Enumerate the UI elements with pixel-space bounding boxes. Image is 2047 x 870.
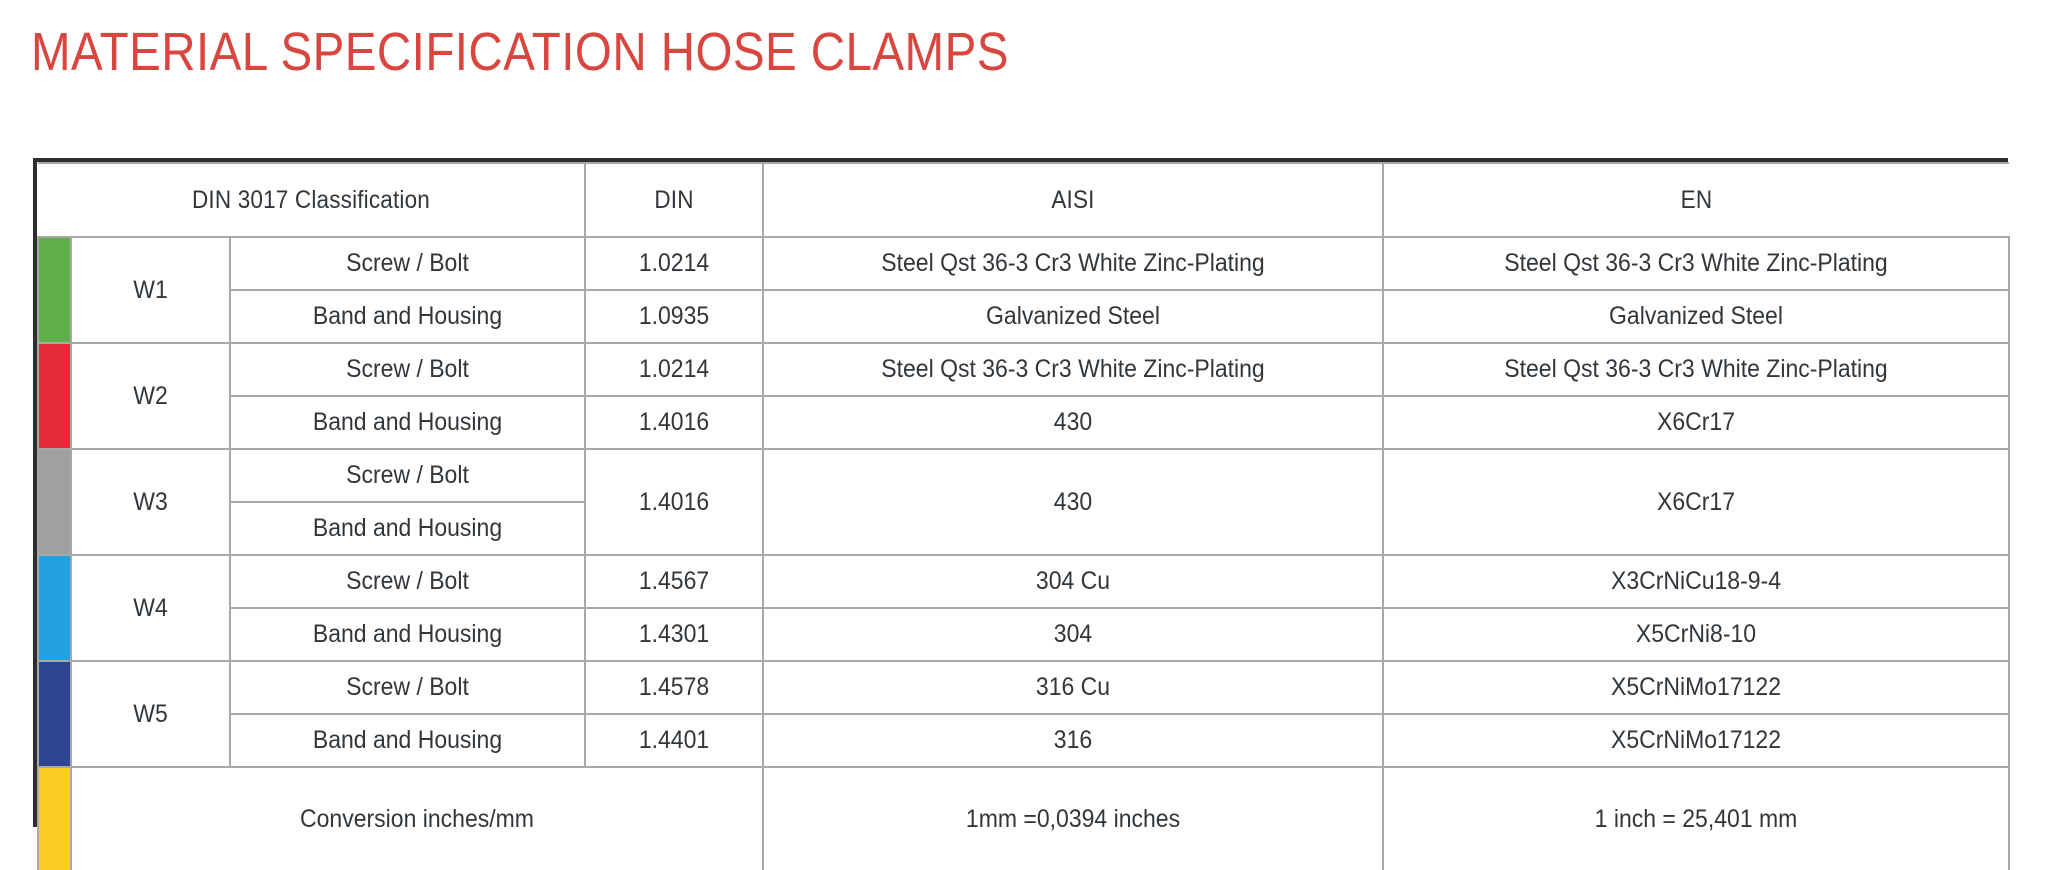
material-spec-table-container: DIN 3017 Classification DIN AISI EN bbox=[33, 158, 2008, 827]
aisi-value: 304 Cu bbox=[763, 555, 1383, 608]
din-value-merged: 1.4016 bbox=[585, 449, 763, 555]
class-code-w4: W4 bbox=[71, 555, 230, 661]
part-label: Band and Housing bbox=[230, 502, 585, 555]
part-label: Band and Housing bbox=[230, 714, 585, 767]
din-value: 1.4567 bbox=[585, 555, 763, 608]
table-header: DIN 3017 Classification DIN AISI EN bbox=[38, 163, 2009, 237]
part-label: Screw / Bolt bbox=[230, 237, 585, 290]
en-value: X6Cr17 bbox=[1383, 396, 2009, 449]
en-value: Steel Qst 36-3 Cr3 White Zinc-Plating bbox=[1383, 237, 2009, 290]
din-value: 1.0214 bbox=[585, 343, 763, 396]
color-swatch-conversion bbox=[38, 767, 71, 870]
color-swatch-w1 bbox=[38, 237, 71, 343]
class-code-w2: W2 bbox=[71, 343, 230, 449]
table-row: W5 Screw / Bolt 1.4578 316 Cu X5CrNiMo17… bbox=[38, 661, 2009, 714]
page-root: MATERIAL SPECIFICATION HOSE CLAMPS DIN 3… bbox=[0, 0, 2047, 868]
din-value: 1.4301 bbox=[585, 608, 763, 661]
din-value: 1.0214 bbox=[585, 237, 763, 290]
color-swatch-w3 bbox=[38, 449, 71, 555]
en-value-merged: X6Cr17 bbox=[1383, 449, 2009, 555]
table-row: Band and Housing 1.4301 304 X5CrNi8-10 bbox=[38, 608, 2009, 661]
page-title: MATERIAL SPECIFICATION HOSE CLAMPS bbox=[31, 22, 1009, 82]
din-value: 1.4401 bbox=[585, 714, 763, 767]
swatch-fill bbox=[39, 450, 70, 554]
table-row: Band and Housing 1.4016 430 X6Cr17 bbox=[38, 396, 2009, 449]
part-label: Screw / Bolt bbox=[230, 661, 585, 714]
column-header-din: DIN bbox=[585, 163, 763, 237]
din-value: 1.4578 bbox=[585, 661, 763, 714]
class-code-w3: W3 bbox=[71, 449, 230, 555]
swatch-fill bbox=[39, 662, 70, 766]
table-row: W4 Screw / Bolt 1.4567 304 Cu X3CrNiCu18… bbox=[38, 555, 2009, 608]
column-header-classification: DIN 3017 Classification bbox=[38, 163, 585, 237]
en-value: X5CrNiMo17122 bbox=[1383, 661, 2009, 714]
aisi-value: 316 Cu bbox=[763, 661, 1383, 714]
aisi-value: Steel Qst 36-3 Cr3 White Zinc-Plating bbox=[763, 343, 1383, 396]
part-label: Band and Housing bbox=[230, 608, 585, 661]
table-row: W1 Screw / Bolt 1.0214 Steel Qst 36-3 Cr… bbox=[38, 237, 2009, 290]
color-swatch-w2 bbox=[38, 343, 71, 449]
color-swatch-w4 bbox=[38, 555, 71, 661]
en-value: Galvanized Steel bbox=[1383, 290, 2009, 343]
material-spec-table: DIN 3017 Classification DIN AISI EN bbox=[37, 162, 2010, 870]
en-value: X5CrNi8-10 bbox=[1383, 608, 2009, 661]
aisi-value: 304 bbox=[763, 608, 1383, 661]
din-value: 1.4016 bbox=[585, 396, 763, 449]
table-header-row: DIN 3017 Classification DIN AISI EN bbox=[38, 163, 2009, 237]
en-value: X3CrNiCu18-9-4 bbox=[1383, 555, 2009, 608]
conversion-mm-to-inches: 1mm =0,0394 inches bbox=[763, 767, 1383, 870]
en-value: Steel Qst 36-3 Cr3 White Zinc-Plating bbox=[1383, 343, 2009, 396]
conversion-row: Conversion inches/mm 1mm =0,0394 inches … bbox=[38, 767, 2009, 870]
din-value: 1.0935 bbox=[585, 290, 763, 343]
table-body: W1 Screw / Bolt 1.0214 Steel Qst 36-3 Cr… bbox=[38, 237, 2009, 870]
aisi-value: Steel Qst 36-3 Cr3 White Zinc-Plating bbox=[763, 237, 1383, 290]
part-label: Screw / Bolt bbox=[230, 449, 585, 502]
conversion-inch-to-mm: 1 inch = 25,401 mm bbox=[1383, 767, 2009, 870]
aisi-value: 316 bbox=[763, 714, 1383, 767]
class-code-w5: W5 bbox=[71, 661, 230, 767]
table-row: W3 Screw / Bolt 1.4016 430 X6Cr17 bbox=[38, 449, 2009, 502]
table-row: W2 Screw / Bolt 1.0214 Steel Qst 36-3 Cr… bbox=[38, 343, 2009, 396]
conversion-label: Conversion inches/mm bbox=[71, 767, 763, 870]
swatch-fill bbox=[39, 344, 70, 448]
en-value: X5CrNiMo17122 bbox=[1383, 714, 2009, 767]
part-label: Band and Housing bbox=[230, 290, 585, 343]
table-row: Band and Housing 1.4401 316 X5CrNiMo1712… bbox=[38, 714, 2009, 767]
column-header-aisi: AISI bbox=[763, 163, 1383, 237]
swatch-fill bbox=[39, 238, 70, 342]
color-swatch-w5 bbox=[38, 661, 71, 767]
swatch-fill bbox=[39, 556, 70, 660]
aisi-value: 430 bbox=[763, 396, 1383, 449]
column-header-en: EN bbox=[1383, 163, 2009, 237]
table-row: Band and Housing 1.0935 Galvanized Steel… bbox=[38, 290, 2009, 343]
aisi-value: Galvanized Steel bbox=[763, 290, 1383, 343]
part-label: Screw / Bolt bbox=[230, 555, 585, 608]
part-label: Band and Housing bbox=[230, 396, 585, 449]
class-code-w1: W1 bbox=[71, 237, 230, 343]
part-label: Screw / Bolt bbox=[230, 343, 585, 396]
swatch-fill bbox=[39, 768, 70, 870]
aisi-value-merged: 430 bbox=[763, 449, 1383, 555]
